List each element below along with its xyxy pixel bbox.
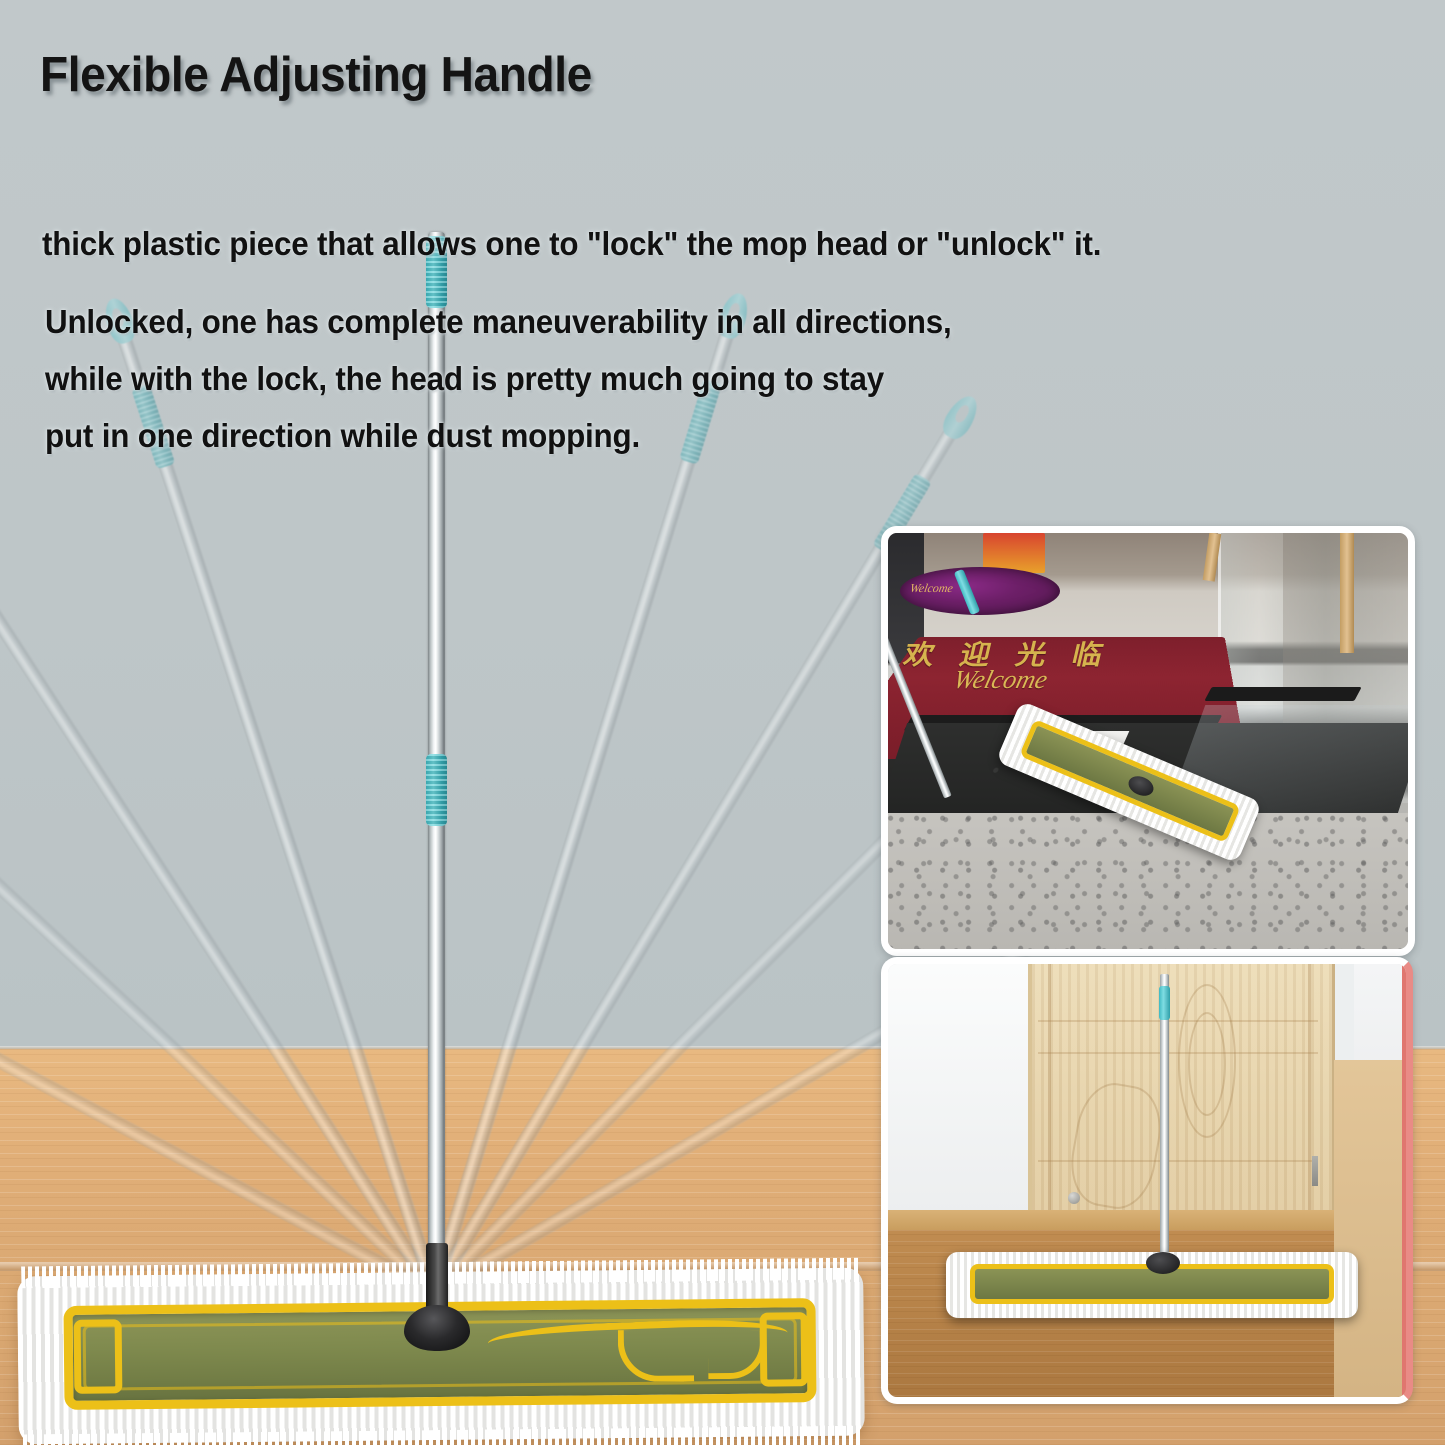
product-infographic: Flexible Adjusting Handle thick plastic … [0, 0, 1445, 1445]
door-grain-2 [1188, 1012, 1226, 1116]
inset-lobby-photo: Welcome 欢迎光临 Welcome [881, 526, 1415, 956]
description-line-4: put in one direction while dust mopping. [45, 417, 640, 455]
chair-leg-right [1340, 533, 1354, 653]
round-mat-text: Welcome [909, 581, 955, 596]
welcome-mat-english-text: Welcome [950, 665, 1050, 695]
inset-mop-grip [1159, 986, 1170, 1020]
description-line-1: thick plastic piece that allows one to "… [42, 225, 1101, 263]
welcome-mat-chinese-text: 欢迎光临 [902, 633, 1199, 664]
door-rail-top [1038, 1020, 1318, 1022]
inset-mop-joint [1146, 1252, 1180, 1274]
description-line-3: while with the lock, the head is pretty … [45, 360, 884, 398]
wooden-floor-right [1334, 1060, 1406, 1397]
threshold-strip-2 [1204, 687, 1361, 701]
description-line-2: Unlocked, one has complete maneuverabili… [45, 303, 952, 341]
wall-left [888, 964, 1036, 1216]
door-line-left [1048, 964, 1051, 1232]
joint-base [404, 1305, 470, 1351]
photo-red-edge [1402, 964, 1406, 1397]
door-screw [1068, 1192, 1080, 1204]
mop-pocket-left [74, 1319, 123, 1393]
page-title: Flexible Adjusting Handle [40, 47, 592, 103]
speckled-tile-floor [888, 813, 1408, 949]
baseboard [888, 1210, 1406, 1232]
door-line-right [1308, 964, 1311, 1232]
inset-doorway-photo [881, 957, 1413, 1404]
door-hinge [1312, 1156, 1318, 1186]
swivel-joint [404, 1243, 470, 1351]
